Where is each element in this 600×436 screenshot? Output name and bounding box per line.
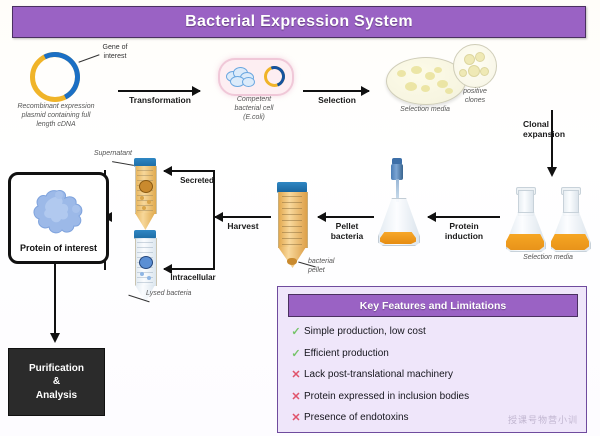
flask-media-1 — [506, 234, 544, 250]
key-features-title-text: Key Features and Limitations — [360, 300, 506, 312]
intracellular-arrow — [164, 268, 214, 270]
list-item: ✕ Lack post-translational machinery — [288, 364, 578, 386]
check-icon: ✓ — [288, 325, 304, 338]
cross-icon: ✕ — [288, 411, 304, 424]
competent-cell-caption: Competent bacterial cell (E.coli) — [208, 96, 300, 122]
positive-clones-label: positive clones — [450, 88, 500, 106]
list-item: ✓ Simple production, low cost — [288, 321, 578, 343]
selection-arrow — [303, 90, 369, 92]
diagram-canvas: Bacterial Expression System Gene of inte… — [0, 0, 600, 436]
plasmid-illustration — [30, 52, 80, 102]
culture-flask-1 — [504, 190, 546, 250]
internal-gene-arc-icon — [261, 63, 289, 91]
bacterial-pellet-icon — [287, 258, 297, 265]
list-item-label: Simple production, low cost — [304, 326, 426, 337]
gene-of-interest-arc-icon — [23, 45, 86, 108]
purification-arrow — [54, 262, 56, 334]
competent-cell-illustration — [218, 58, 294, 96]
key-features-title: Key Features and Limitations — [288, 294, 578, 317]
secreted-arrow — [164, 170, 214, 172]
transformation-arrow — [118, 90, 200, 92]
transformation-label: Transformation — [112, 96, 208, 106]
list-item-label: Efficient production — [304, 348, 389, 359]
pellet-bacteria-arrow — [318, 216, 374, 218]
chromosomal-dna-icon — [226, 67, 256, 87]
page-title-text: Bacterial Expression System — [185, 13, 413, 31]
gene-of-interest-label: Gene of interest — [90, 44, 140, 62]
culture-flask-2 — [549, 190, 591, 250]
protein-induction-label: Protein induction — [428, 222, 500, 242]
harvest-label: Harvest — [215, 222, 271, 232]
protein-induction-arrow — [428, 216, 500, 218]
list-item-label: Presence of endotoxins — [304, 412, 409, 423]
protein-of-interest-box: Protein of interest — [8, 172, 109, 264]
check-icon: ✓ — [288, 347, 304, 360]
induction-flask-media — [380, 232, 416, 244]
secreted-protein-icon — [139, 180, 153, 193]
protein-blob-icon — [31, 189, 87, 235]
cross-icon: ✕ — [288, 390, 304, 403]
key-features-panel: Key Features and Limitations ✓ Simple pr… — [277, 286, 587, 433]
flasks-selection-media-caption: Selection media — [500, 254, 596, 263]
plasmid-caption: Recombinant expression plasmid containin… — [4, 103, 108, 129]
protein-of-interest-label: Protein of interest — [11, 243, 106, 253]
page-title: Bacterial Expression System — [12, 6, 586, 38]
list-item: ✕ Protein expressed in inclusion bodies — [288, 386, 578, 408]
purification-analysis-label: Purification & Analysis — [29, 362, 84, 403]
list-item-label: Lack post-translational machinery — [304, 369, 453, 380]
flask-media-2 — [551, 234, 589, 250]
bacterial-pellet-caption: bacterial pellet — [308, 258, 366, 276]
tube-graduations — [282, 196, 302, 246]
supernatant-tube-illustration — [134, 158, 156, 230]
list-item: ✓ Efficient production — [288, 343, 578, 365]
lysed-bacteria-caption: Lysed bacteria — [146, 290, 218, 299]
pellet-tube-illustration — [277, 182, 307, 268]
selection-label: Selection — [298, 96, 376, 106]
purification-analysis-box: Purification & Analysis — [8, 348, 105, 416]
intracellular-protein-icon — [139, 256, 153, 269]
selection-media-caption: Selection media — [378, 106, 472, 115]
list-item-label: Protein expressed in inclusion bodies — [304, 391, 469, 402]
positive-clones-magnifier — [453, 44, 497, 88]
harvest-arrow — [215, 216, 271, 218]
clonal-expansion-label: Clonal expansion — [523, 120, 595, 140]
induction-flask-illustration — [378, 192, 418, 244]
watermark: 授课号物营小训 — [508, 413, 578, 426]
pellet-bacteria-label: Pellet bacteria — [316, 222, 378, 242]
supernatant-leader-line — [112, 161, 134, 166]
supernatant-caption: Supernatant — [70, 150, 132, 159]
secreted-label: Secreted — [168, 176, 226, 185]
cross-icon: ✕ — [288, 368, 304, 381]
intracellular-label: Intracellular — [160, 273, 226, 282]
